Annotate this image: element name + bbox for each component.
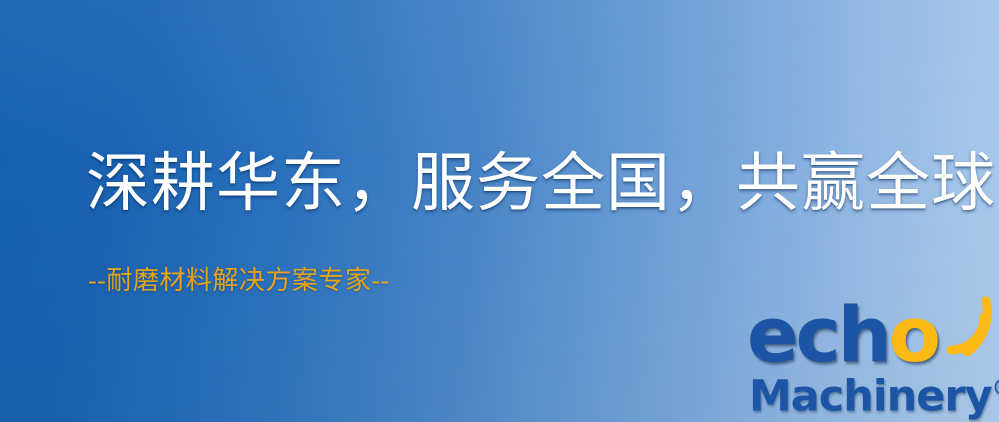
banner-subtitle: --耐磨材料解决方案专家-- [88,268,390,294]
registered-trademark-icon: ® [992,376,999,401]
logo-wordmark: echo [745,295,999,375]
logo-tagline-text: Machinery [749,371,992,421]
company-logo[interactable]: echo Machinery® [745,295,999,422]
logo-brand-text-ech: ech [747,290,889,379]
promotional-banner: 深耕华东，服务全国，共赢全球 --耐磨材料解决方案专家-- echo Machi… [0,0,999,422]
banner-headline: 深耕华东，服务全国，共赢全球 [86,152,996,216]
logo-brand-text: echo [747,297,938,373]
logo-brand-text-o: o [889,290,938,379]
echo-wave-icon [937,294,999,356]
logo-tagline: Machinery® [749,367,999,418]
